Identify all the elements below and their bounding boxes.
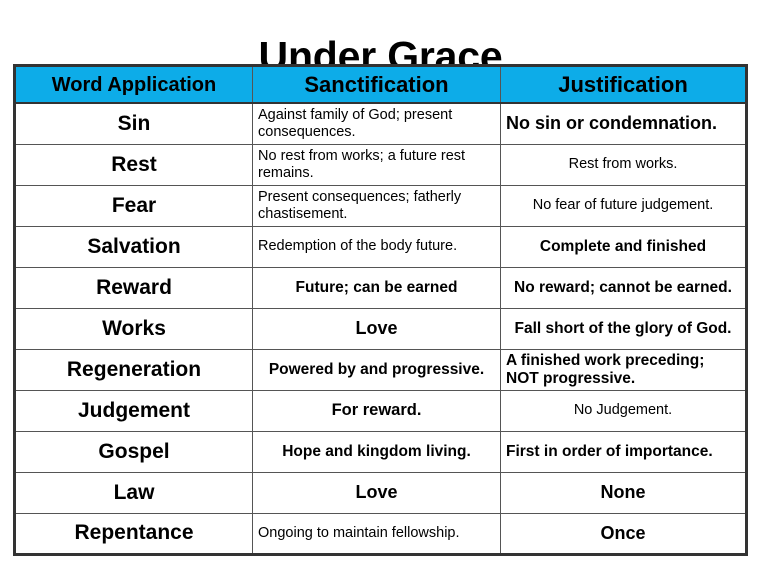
table-row: Regeneration Powered by and progressive.… bbox=[15, 349, 747, 390]
table-row: Gospel Hope and kingdom living. First in… bbox=[15, 431, 747, 472]
row-term: Law bbox=[15, 472, 253, 513]
row-justification: No reward; cannot be earned. bbox=[501, 267, 747, 308]
table-row: Fear Present consequences; fatherly chas… bbox=[15, 185, 747, 226]
table-body: Sin Against family of God; present conse… bbox=[15, 103, 747, 554]
row-justification: None bbox=[501, 472, 747, 513]
row-term: Repentance bbox=[15, 513, 253, 554]
column-header-sanctification: Sanctification bbox=[253, 66, 501, 104]
page-root: Under Grace Word Application Sanctificat… bbox=[0, 0, 761, 573]
table-row: Reward Future; can be earned No reward; … bbox=[15, 267, 747, 308]
column-header-word-application: Word Application bbox=[15, 66, 253, 104]
column-header-justification: Justification bbox=[501, 66, 747, 104]
row-term: Works bbox=[15, 308, 253, 349]
table-row: Salvation Redemption of the body future.… bbox=[15, 226, 747, 267]
row-sanctification: Hope and kingdom living. bbox=[253, 431, 501, 472]
row-sanctification: Redemption of the body future. bbox=[253, 226, 501, 267]
table-row: Rest No rest from works; a future rest r… bbox=[15, 144, 747, 185]
row-sanctification: Future; can be earned bbox=[253, 267, 501, 308]
row-justification: Fall short of the glory of God. bbox=[501, 308, 747, 349]
row-sanctification: Ongoing to maintain fellowship. bbox=[253, 513, 501, 554]
row-term: Salvation bbox=[15, 226, 253, 267]
row-justification: Once bbox=[501, 513, 747, 554]
row-justification: No Judgement. bbox=[501, 390, 747, 431]
row-term: Sin bbox=[15, 103, 253, 144]
row-term: Reward bbox=[15, 267, 253, 308]
row-sanctification: Present consequences; fatherly chastisem… bbox=[253, 185, 501, 226]
row-sanctification: Powered by and progressive. bbox=[253, 349, 501, 390]
row-justification: No sin or condemnation. bbox=[501, 103, 747, 144]
row-term: Rest bbox=[15, 144, 253, 185]
table-header-row: Word Application Sanctification Justific… bbox=[15, 66, 747, 104]
comparison-table: Word Application Sanctification Justific… bbox=[13, 64, 748, 556]
row-sanctification: For reward. bbox=[253, 390, 501, 431]
table-row: Law Love None bbox=[15, 472, 747, 513]
row-term: Gospel bbox=[15, 431, 253, 472]
row-justification: Rest from works. bbox=[501, 144, 747, 185]
row-justification: Complete and finished bbox=[501, 226, 747, 267]
table-row: Repentance Ongoing to maintain fellowshi… bbox=[15, 513, 747, 554]
row-sanctification: Love bbox=[253, 472, 501, 513]
row-sanctification: Against family of God; present consequen… bbox=[253, 103, 501, 144]
table-header: Word Application Sanctification Justific… bbox=[15, 66, 747, 104]
table-row: Judgement For reward. No Judgement. bbox=[15, 390, 747, 431]
row-justification: First in order of importance. bbox=[501, 431, 747, 472]
table-row: Sin Against family of God; present conse… bbox=[15, 103, 747, 144]
table-row: Works Love Fall short of the glory of Go… bbox=[15, 308, 747, 349]
row-justification: A finished work preceding; NOT progressi… bbox=[501, 349, 747, 390]
row-sanctification: Love bbox=[253, 308, 501, 349]
row-justification: No fear of future judgement. bbox=[501, 185, 747, 226]
row-term: Regeneration bbox=[15, 349, 253, 390]
row-term: Fear bbox=[15, 185, 253, 226]
row-sanctification: No rest from works; a future rest remain… bbox=[253, 144, 501, 185]
row-term: Judgement bbox=[15, 390, 253, 431]
